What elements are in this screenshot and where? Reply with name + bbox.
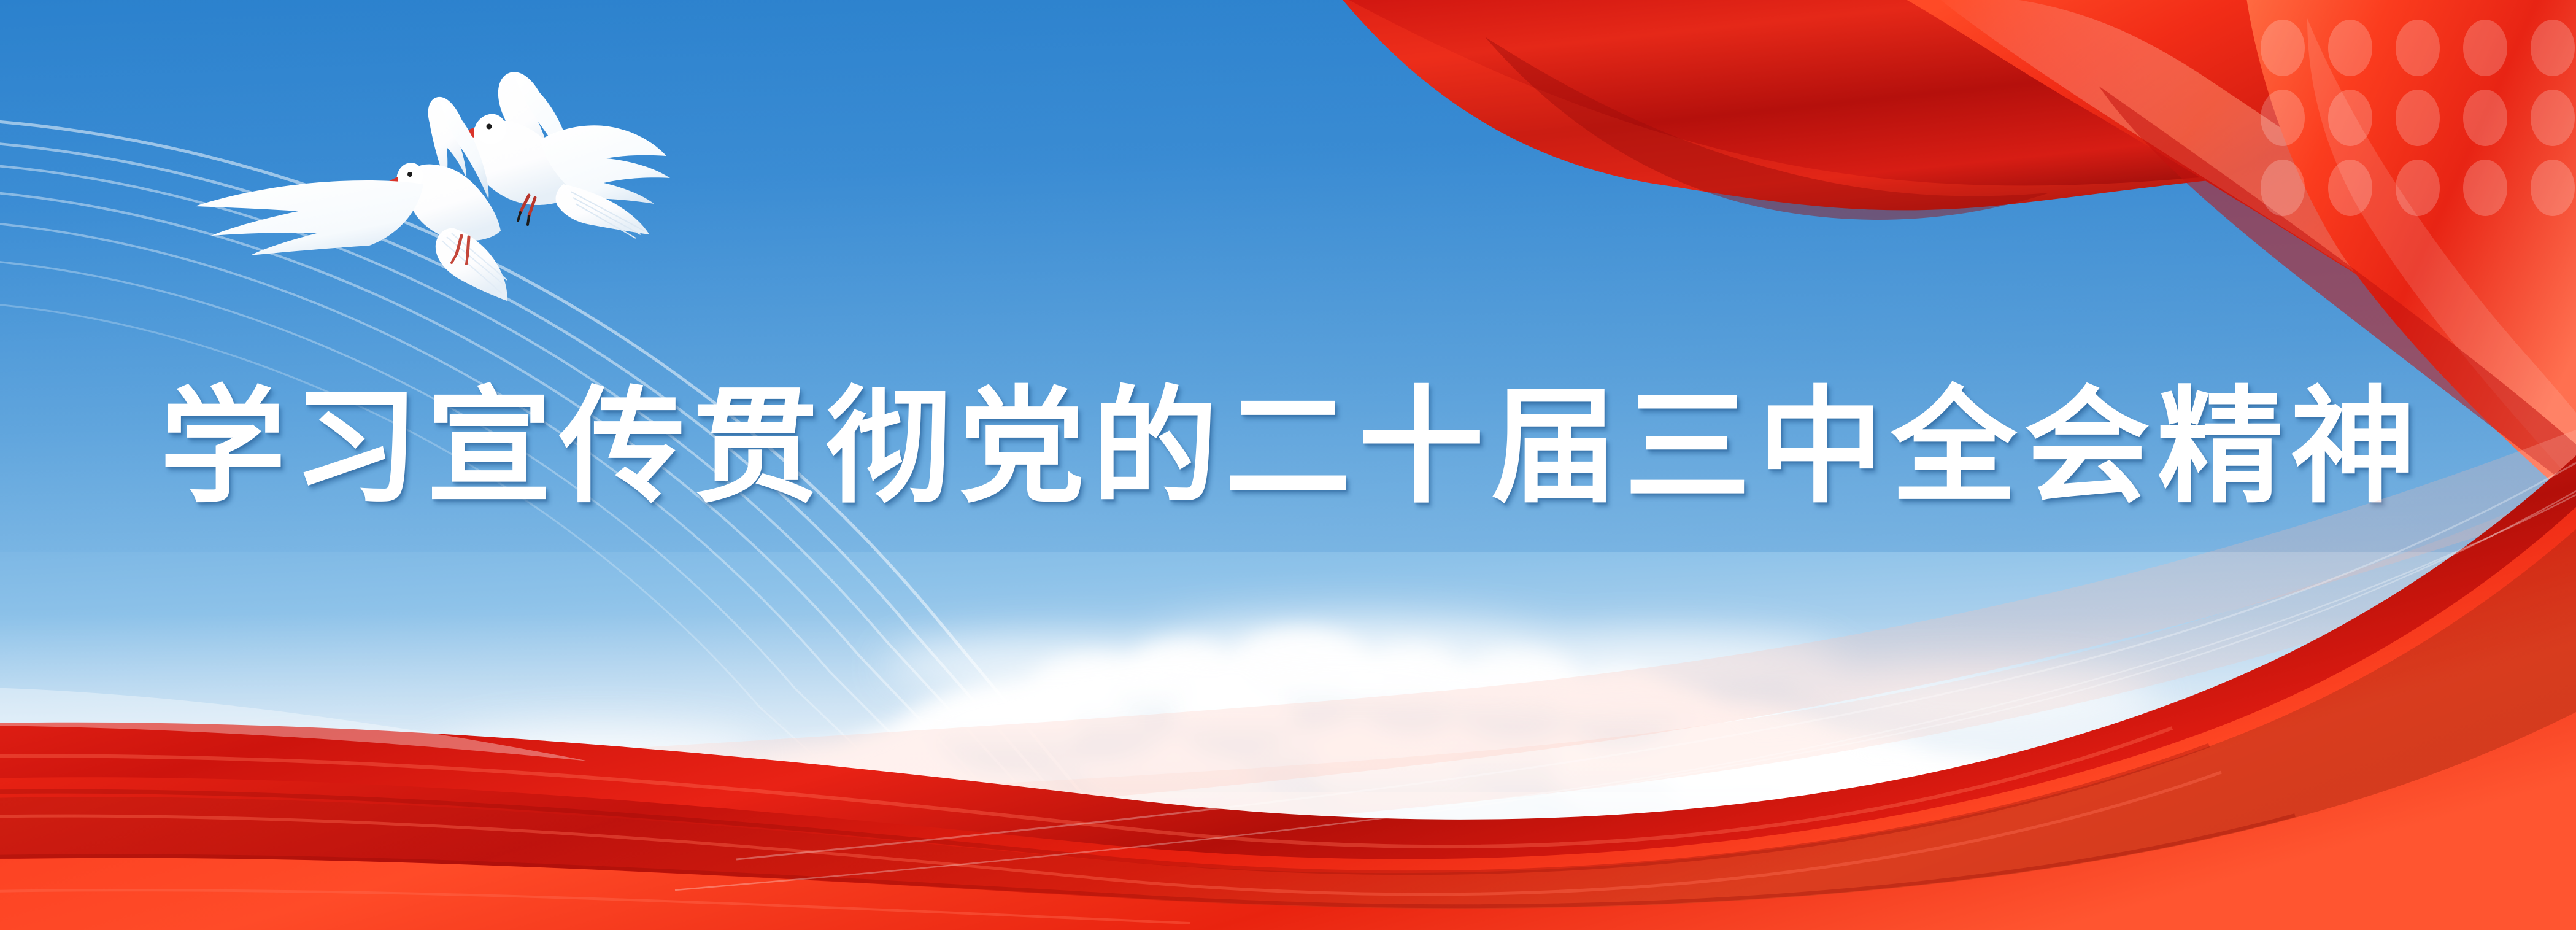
banner-title-wrap: 学习宣传贯彻党的二十届三中全会精神 bbox=[0, 378, 2576, 519]
peace-dove-left bbox=[195, 97, 507, 301]
party-congress-banner: 学习宣传贯彻党的二十届三中全会精神 bbox=[0, 0, 2576, 930]
page-title: 学习宣传贯彻党的二十届三中全会精神 bbox=[153, 386, 2424, 511]
peace-dove-right bbox=[461, 72, 670, 238]
dot-grid-overlay bbox=[2261, 20, 2575, 216]
